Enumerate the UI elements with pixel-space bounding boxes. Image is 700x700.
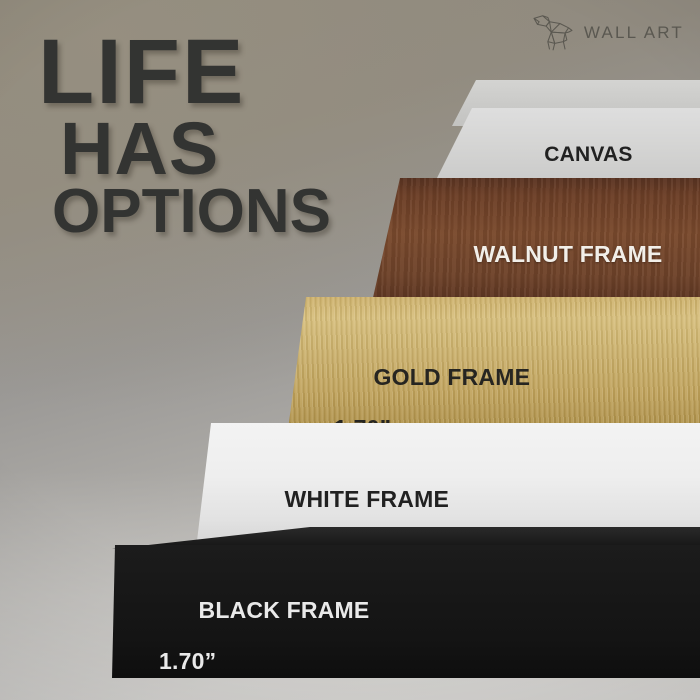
option-title-black-frame: BLACK FRAME — [199, 597, 370, 623]
option-board-gold-frame[interactable]: GOLD FRAME 1.70” — [288, 297, 700, 429]
headline-line-3: OPTIONS — [52, 183, 331, 240]
option-board-white-frame[interactable]: WHITE FRAME 1.70” — [197, 423, 700, 541]
page-title: LIFE HAS OPTIONS — [38, 30, 331, 240]
origami-goat-icon — [530, 14, 576, 52]
product-options-poster: CANVAS 0.75” CANVAS 1.50” WALNUT FRAME 1… — [0, 0, 700, 700]
option-label-black-frame: BLACK FRAME 1.70” — [159, 572, 369, 678]
brand-name: WALL ART — [584, 23, 684, 43]
option-label-walnut-frame: WALNUT FRAME 1.70” — [434, 216, 662, 302]
option-title-walnut-frame: WALNUT FRAME — [474, 241, 663, 267]
option-board-walnut-frame[interactable]: WALNUT FRAME 1.70” — [372, 178, 700, 302]
option-title-canvas-150: CANVAS — [544, 143, 632, 166]
option-label-canvas-150: CANVAS 1.50” — [508, 119, 633, 180]
headline-line-1: LIFE — [38, 30, 331, 115]
option-depth-black-frame: 1.70” — [159, 649, 369, 675]
brand-logo[interactable]: WALL ART — [530, 14, 684, 52]
option-label-gold-frame: GOLD FRAME 1.70” — [334, 339, 530, 429]
option-title-gold-frame: GOLD FRAME — [374, 364, 531, 390]
option-board-canvas-150[interactable]: CANVAS 1.50” — [436, 108, 700, 180]
option-title-white-frame: WHITE FRAME — [285, 486, 449, 512]
headline-line-2: HAS — [60, 115, 331, 183]
option-board-black-frame[interactable]: BLACK FRAME 1.70” — [112, 545, 700, 678]
